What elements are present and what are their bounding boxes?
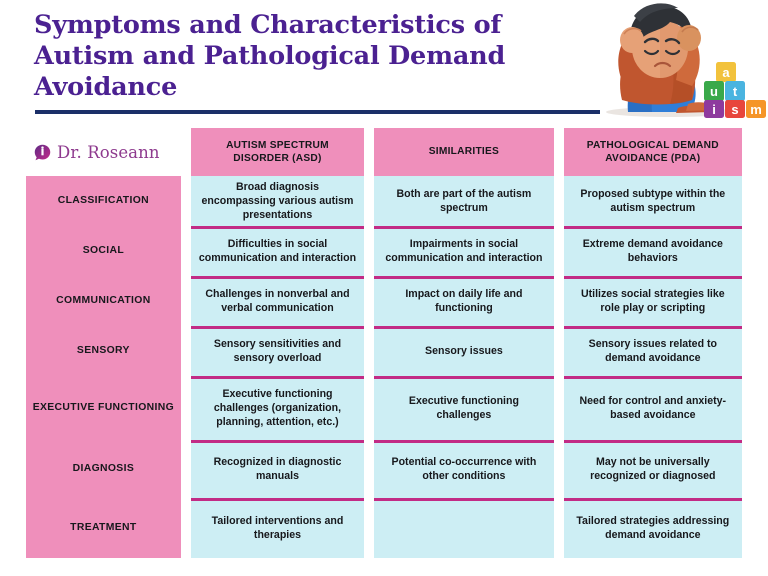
row-label-social: SOCIAL xyxy=(26,226,181,276)
row-label-treatment: TREATMENT xyxy=(26,498,181,558)
cell-sim-classification: Both are part of the autism spectrum xyxy=(374,176,553,226)
speech-bubble-icon xyxy=(34,144,51,161)
cell-pda-sensory: Sensory issues related to demand avoidan… xyxy=(564,326,742,376)
cell-asd-diagnosis: Recognized in diagnostic manuals xyxy=(191,440,364,498)
brand-logo: Dr. Roseann xyxy=(26,128,181,176)
cell-asd-sensory: Sensory sensitivities and sensory overlo… xyxy=(191,326,364,376)
title-divider-rule xyxy=(35,110,600,114)
cell-asd-classification: Broad diagnosis encompassing various aut… xyxy=(191,176,364,226)
svg-text:i: i xyxy=(712,102,716,117)
row-label-sensory: SENSORY xyxy=(26,326,181,376)
column-body-asd: Broad diagnosis encompassing various aut… xyxy=(191,176,364,558)
svg-text:m: m xyxy=(750,102,762,117)
cell-pda-classification: Proposed subtype within the autism spect… xyxy=(564,176,742,226)
brand-name: Dr. Roseann xyxy=(57,143,160,162)
column-header-asd: AUTISM SPECTRUM DISORDER (ASD) xyxy=(191,128,364,176)
row-label-communication: COMMUNICATION xyxy=(26,276,181,326)
table-column-pda: PATHOLOGICAL DEMAND AVOIDANCE (PDA) Prop… xyxy=(564,128,742,558)
cell-asd-executive-functioning: Executive functioning challenges (organi… xyxy=(191,376,364,440)
cell-asd-social: Difficulties in social communication and… xyxy=(191,226,364,276)
column-header-similarities: SIMILARITIES xyxy=(374,128,553,176)
svg-text:s: s xyxy=(731,102,738,117)
row-label-classification: CLASSIFICATION xyxy=(26,176,181,226)
table-column-labels: Dr. Roseann CLASSIFICATION SOCIAL COMMUN… xyxy=(26,128,181,558)
page-title: Symptoms and Characteristics of Autism a… xyxy=(34,10,599,103)
column-header-pda: PATHOLOGICAL DEMAND AVOIDANCE (PDA) xyxy=(564,128,742,176)
row-label-stack: CLASSIFICATION SOCIAL COMMUNICATION SENS… xyxy=(26,176,181,558)
cell-pda-executive-functioning: Need for control and anxiety-based avoid… xyxy=(564,376,742,440)
table-column-asd: AUTISM SPECTRUM DISORDER (ASD) Broad dia… xyxy=(191,128,364,558)
cell-sim-treatment xyxy=(374,498,553,558)
table-column-similarities: SIMILARITIES Both are part of the autism… xyxy=(374,128,553,558)
cell-pda-communication: Utilizes social strategies like role pla… xyxy=(564,276,742,326)
cell-pda-treatment: Tailored strategies addressing demand av… xyxy=(564,498,742,558)
column-body-similarities: Both are part of the autism spectrum Imp… xyxy=(374,176,553,558)
comparison-table: Dr. Roseann CLASSIFICATION SOCIAL COMMUN… xyxy=(26,128,742,558)
cell-sim-communication: Impact on daily life and functioning xyxy=(374,276,553,326)
row-label-executive-functioning: EXECUTIVE FUNCTIONING xyxy=(26,376,181,440)
cell-pda-diagnosis: May not be universally recognized or dia… xyxy=(564,440,742,498)
cell-sim-social: Impairments in social communication and … xyxy=(374,226,553,276)
svg-text:t: t xyxy=(733,84,738,99)
cell-sim-executive-functioning: Executive functioning challenges xyxy=(374,376,553,440)
cell-asd-treatment: Tailored interventions and therapies xyxy=(191,498,364,558)
infographic-root: Symptoms and Characteristics of Autism a… xyxy=(0,0,768,576)
row-label-diagnosis: DIAGNOSIS xyxy=(26,440,181,498)
cell-sim-diagnosis: Potential co-occurrence with other condi… xyxy=(374,440,553,498)
svg-text:u: u xyxy=(710,84,718,99)
cell-sim-sensory: Sensory issues xyxy=(374,326,553,376)
column-body-pda: Proposed subtype within the autism spect… xyxy=(564,176,742,558)
svg-text:a: a xyxy=(722,65,730,80)
cell-pda-social: Extreme demand avoidance behaviors xyxy=(564,226,742,276)
cell-asd-communication: Challenges in nonverbal and verbal commu… xyxy=(191,276,364,326)
distressed-child-with-autism-blocks-illustration: a u t i s m xyxy=(600,0,768,118)
